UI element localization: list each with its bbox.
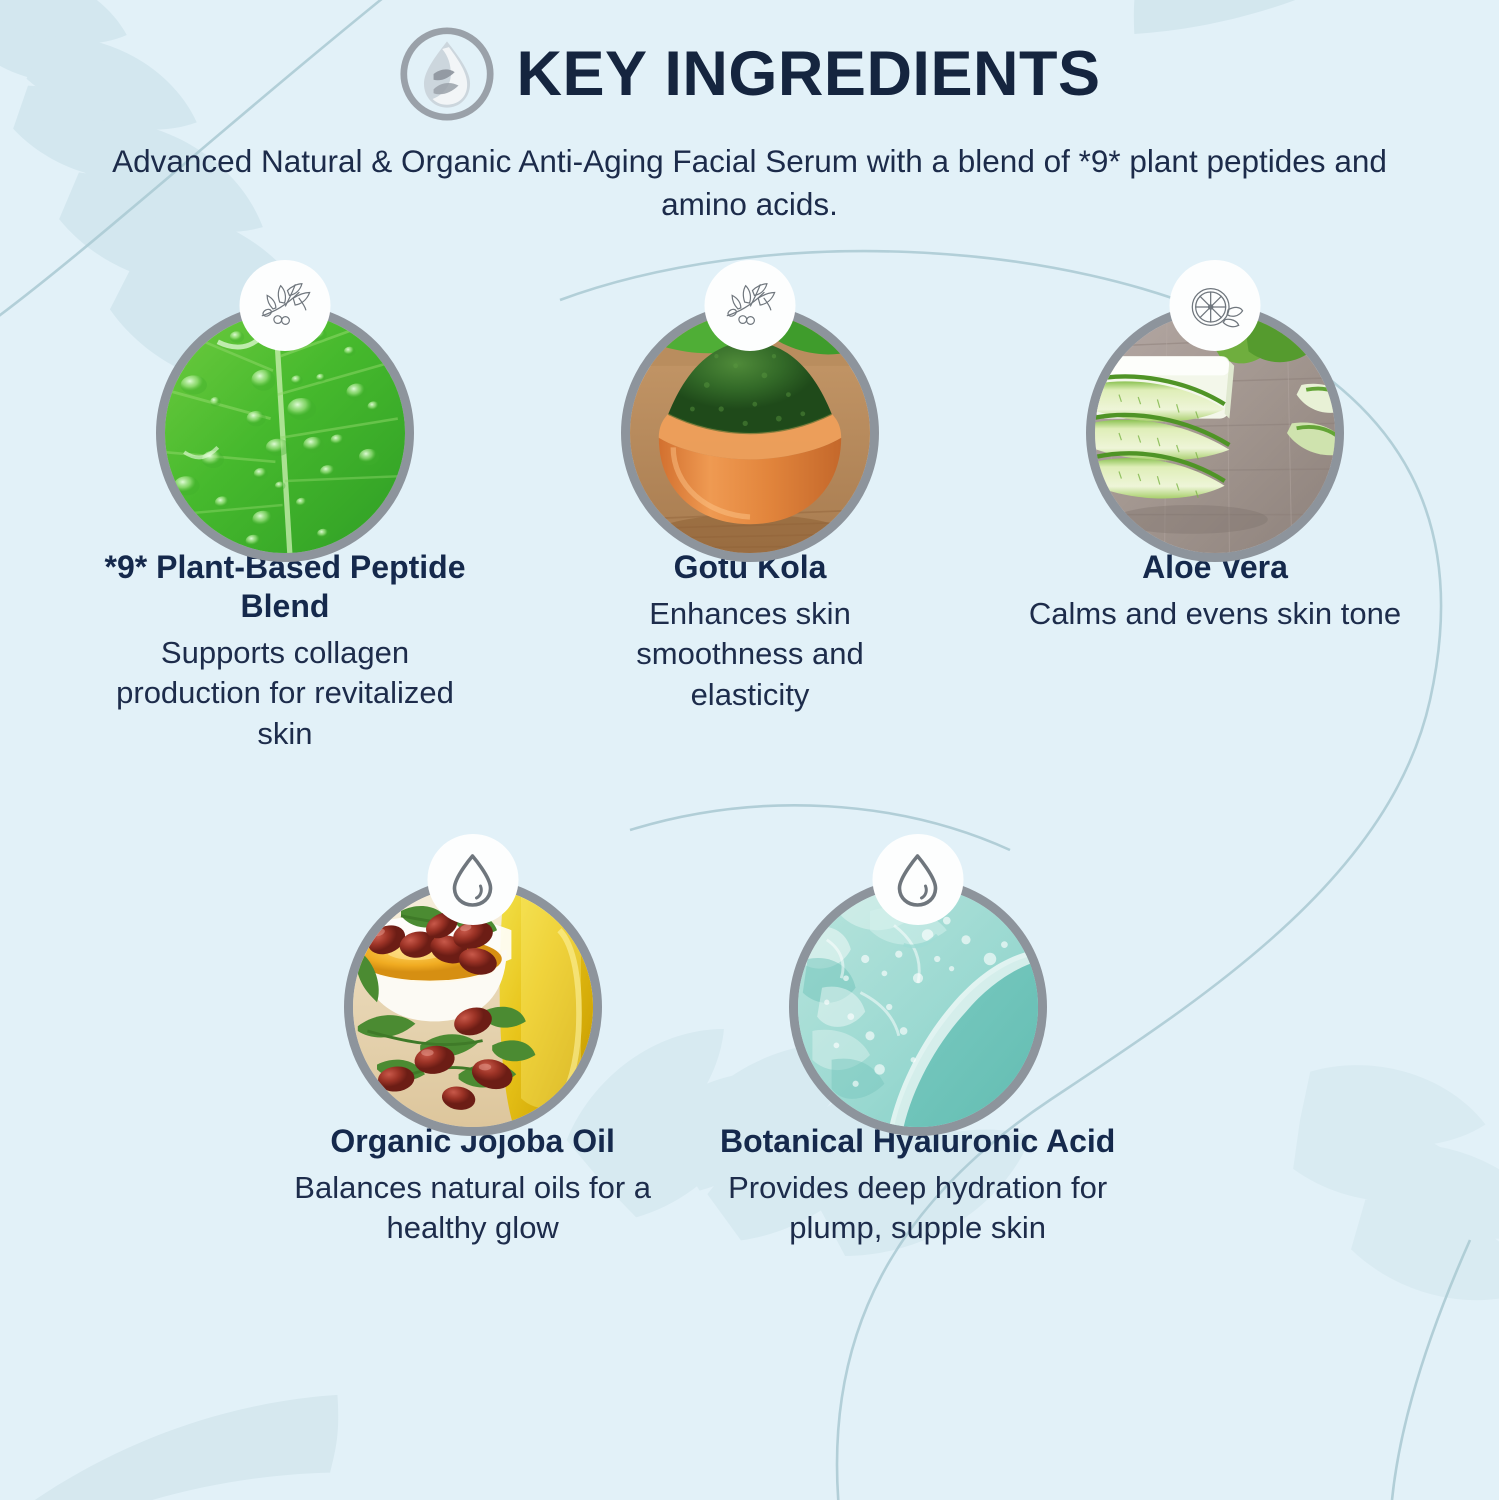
ingredient-description: Balances natural oils for a healthy glow — [273, 1168, 673, 1249]
leaf-watermark-right — [1239, 1018, 1499, 1347]
leaf-droplet-logo-icon — [399, 26, 495, 122]
water-droplet-icon — [892, 850, 944, 910]
herb-sprig-icon — [721, 277, 779, 335]
ingredient-description: Provides deep hydration for plump, suppl… — [680, 1168, 1155, 1249]
herb-sprig-icon — [256, 277, 314, 335]
citrus-slice-icon — [1186, 277, 1244, 335]
water-droplet-icon — [447, 850, 499, 910]
ingredient-media — [156, 268, 414, 526]
page-header: KEY INGREDIENTS — [0, 26, 1499, 122]
ingredient-description: Calms and evens skin tone — [1029, 594, 1401, 634]
ingredient-description: Enhances skin smoothness and elasticity — [600, 594, 900, 715]
ingredient-media — [344, 842, 602, 1100]
ingredient-media — [621, 268, 879, 526]
palm-frond-watermark-bottom-left — [0, 1271, 601, 1500]
subtitle-line-1: Advanced Natural & Organic Anti-Aging Fa… — [112, 143, 1325, 179]
ingredient-row-bottom: Organic Jojoba Oil Balances natural oils… — [265, 842, 1155, 1249]
ingredient-media — [789, 842, 1047, 1100]
ingredient-badge — [705, 260, 796, 351]
ingredient-card-plant-based-peptide-blend[interactable]: *9* Plant-Based Peptide Blend Supports c… — [75, 268, 495, 754]
ingredient-badge — [872, 834, 963, 925]
ingredient-row-top: *9* Plant-Based Peptide Blend Supports c… — [75, 268, 1425, 754]
ingredient-badge — [427, 834, 518, 925]
page-subtitle: Advanced Natural & Organic Anti-Aging Fa… — [0, 140, 1499, 226]
ingredient-badge — [1170, 260, 1261, 351]
ingredient-card-botanical-hyaluronic-acid[interactable]: Botanical Hyaluronic Acid Provides deep … — [680, 842, 1155, 1249]
ingredient-card-gotu-kola[interactable]: Gotu Kola Enhances skin smoothness and e… — [540, 268, 960, 754]
ingredient-card-organic-jojoba-oil[interactable]: Organic Jojoba Oil Balances natural oils… — [265, 842, 680, 1249]
ingredient-media — [1086, 268, 1344, 526]
page-title: KEY INGREDIENTS — [517, 43, 1101, 106]
ingredient-card-aloe-vera[interactable]: Aloe Vera Calms and evens skin tone — [1005, 268, 1425, 754]
ingredient-badge — [240, 260, 331, 351]
ingredient-description: Supports collagen production for revital… — [88, 633, 483, 754]
